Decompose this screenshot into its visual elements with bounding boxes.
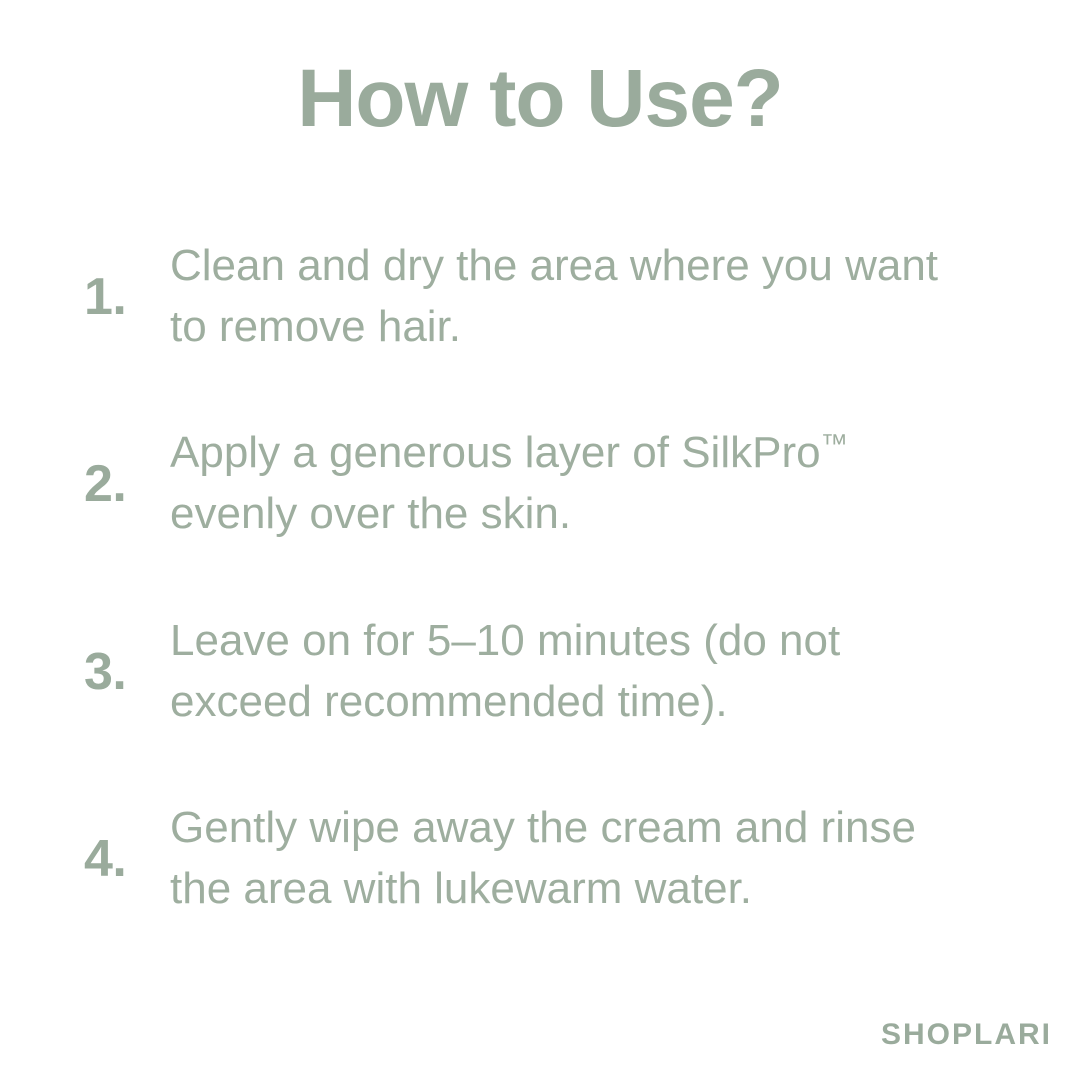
- step-text-main: Gently wipe away the cream and rinse the…: [170, 803, 916, 913]
- step-text: Leave on for 5–10 minutes (do not exceed…: [170, 611, 982, 732]
- list-item: 2. Apply a generous layer of SilkPro™ ev…: [0, 423, 1080, 544]
- page-title: How to Use?: [0, 52, 1080, 146]
- step-number: 3.: [84, 646, 170, 698]
- brand-logo: SHOPLARI: [881, 1018, 1052, 1052]
- step-number: 2.: [84, 458, 170, 510]
- steps-list: 1. Clean and dry the area where you want…: [0, 236, 1080, 920]
- trademark-symbol: ™: [821, 428, 849, 459]
- list-item: 4. Gently wipe away the cream and rinse …: [0, 798, 1080, 919]
- step-text-main: Apply a generous layer of SilkPro: [170, 428, 821, 477]
- step-number: 4.: [84, 833, 170, 885]
- step-text-main: Clean and dry the area where you want to…: [170, 241, 938, 351]
- step-number: 1.: [84, 271, 170, 323]
- step-text-main: Leave on for 5–10 minutes (do not exceed…: [170, 616, 840, 726]
- step-text-tail: evenly over the skin.: [170, 489, 571, 538]
- list-item: 3. Leave on for 5–10 minutes (do not exc…: [0, 611, 1080, 732]
- step-text: Clean and dry the area where you want to…: [170, 236, 982, 357]
- list-item: 1. Clean and dry the area where you want…: [0, 236, 1080, 357]
- poster-canvas: How to Use? 1. Clean and dry the area wh…: [0, 0, 1080, 1080]
- step-text: Apply a generous layer of SilkPro™ evenl…: [170, 423, 982, 544]
- step-text: Gently wipe away the cream and rinse the…: [170, 798, 982, 919]
